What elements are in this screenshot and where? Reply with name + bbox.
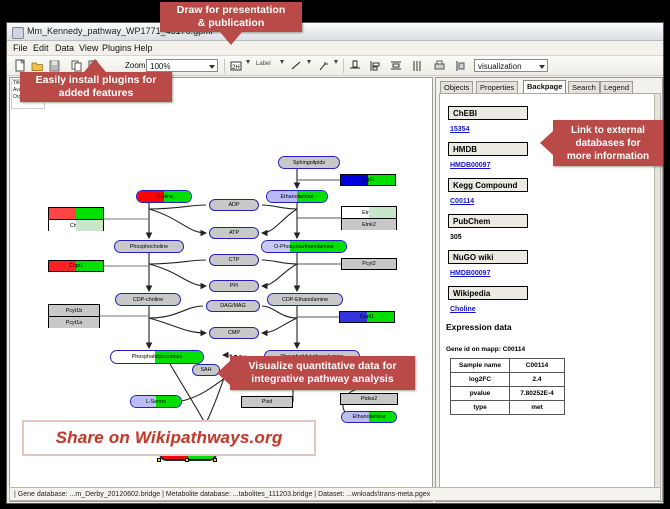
gene-label: Pisd [262, 399, 273, 405]
callout-draw: Draw for presentation & publication [160, 2, 302, 32]
callout-visualize: Visualize quantitative data for integrat… [230, 356, 415, 390]
banner-text: Share on Wikipathways.org [56, 428, 283, 448]
node-label: Ethanolamine [281, 194, 314, 200]
arrow-dropdown-icon[interactable] [334, 60, 338, 64]
node-label: Ethanolamine [353, 414, 386, 420]
datanode-dropdown-icon[interactable] [246, 60, 250, 64]
gene-ptdss2[interactable]: Ptdss2 [340, 393, 398, 405]
callout-plugins-line1: Easily install plugins for [36, 74, 157, 87]
node-label: CDP-choline [133, 297, 163, 303]
menu-item-edit[interactable]: Edit [33, 43, 49, 53]
exp-val-log2fc: 2.4 [510, 373, 565, 387]
gene-row-etnk1[interactable]: Etnk1 [342, 207, 396, 219]
node-phosphocholine[interactable]: Phosphocholine [114, 240, 184, 253]
tab-search[interactable]: Search [568, 81, 600, 93]
expression-heading: Expression data [446, 322, 512, 332]
tab-objects[interactable]: Objects [440, 81, 473, 93]
toolbar-separator-1 [224, 59, 225, 73]
distribute-h-icon[interactable] [411, 59, 424, 73]
selection-handle-s[interactable] [185, 458, 189, 462]
callout-links-line3: more information [567, 150, 649, 163]
db-link-nugo[interactable]: HMDB00097 [450, 270, 490, 277]
status-text: | Gene database: ...m_Derby_20120602.bri… [14, 491, 430, 498]
app-icon [12, 27, 24, 39]
status-bar: | Gene database: ...m_Derby_20120602.bri… [9, 487, 661, 501]
tab-backpage[interactable]: Backpage [523, 80, 566, 93]
wikipathways-banner: Share on Wikipathways.org [22, 420, 316, 456]
menu-item-view[interactable]: View [79, 43, 98, 53]
menu-item-file[interactable]: File [13, 43, 28, 53]
gene-group-chk[interactable]: Chkb Chka [48, 207, 104, 231]
db-header-kegg: Kegg Compound [448, 178, 528, 192]
callout-draw-line2: & publication [177, 17, 286, 30]
node-label: Sphingolipids [293, 160, 325, 166]
toolbar-separator-2 [343, 59, 344, 73]
label-tool-label[interactable]: Label [256, 61, 271, 67]
node-ctp[interactable]: CTP [209, 254, 259, 266]
callout-visualize-line1: Visualize quantitative data for [248, 360, 396, 373]
db-header-wikipedia: Wikipedia [448, 286, 528, 300]
node-label: DAG/MAG [220, 303, 245, 309]
db-link-chebi[interactable]: 15354 [450, 126, 469, 133]
callout-plugins-line2: added features [36, 87, 157, 100]
gene-pisd[interactable]: Pisd [241, 396, 293, 408]
table-row: pvalue 7.80252E-4 [451, 387, 565, 401]
node-label: Phosphocholine [130, 244, 168, 250]
gene-label: Pcyt1b [66, 308, 82, 314]
db-value-pubchem: 305 [450, 234, 462, 241]
line-dropdown-icon[interactable] [307, 60, 311, 64]
node-label: SAH [200, 367, 211, 373]
node-label: ADP [228, 202, 239, 208]
gene-id-on-mapp: Gene id on mapp: C00114 [446, 346, 525, 353]
exp-key-sample-name: Sample name [451, 359, 510, 373]
db-link-wikipedia[interactable]: Choline [450, 306, 476, 313]
table-row: log2FC 2.4 [451, 373, 565, 387]
menu-item-help[interactable]: Help [134, 43, 153, 53]
db-header-chebi: ChEBI [448, 106, 528, 120]
order-icon[interactable] [455, 59, 468, 73]
menu-bar: File Edit Data View Plugins Help [7, 41, 663, 56]
db-header-pubchem: PubChem [448, 214, 528, 228]
node-cdp-ethanolamine[interactable]: CDP-Ethanolamine [267, 293, 343, 306]
gene-label: Ptdss2 [361, 396, 377, 402]
node-ppi[interactable]: PPi [209, 280, 259, 292]
zoom-label: Zoom: [125, 61, 148, 70]
gene-label: Chpt1 [69, 263, 83, 269]
callout-visualize-arrow-icon [217, 361, 230, 385]
callout-visualize-line2: integrative pathway analysis [248, 373, 396, 386]
exp-key-log2fc: log2FC [451, 373, 510, 387]
callout-draw-arrow-icon [220, 32, 242, 45]
gene-label: Pcyt2 [362, 261, 375, 267]
svg-text:2H: 2H [232, 65, 240, 71]
node-label: CTP [229, 257, 240, 263]
callout-links: Link to external databases for more info… [553, 120, 663, 166]
zoom-value: 100% [150, 62, 170, 71]
gene-row-pcyt1b[interactable]: Pcyt1b [49, 305, 99, 317]
arrow-tool-icon[interactable] [317, 59, 330, 73]
callout-links-arrow-icon [540, 131, 553, 155]
gene-label: Etnk2 [362, 222, 376, 228]
gene-pcyt2[interactable]: Pcyt2 [341, 258, 397, 270]
menu-item-data[interactable]: Data [55, 43, 74, 53]
gene-group-etnk[interactable]: Etnk1 Etnk2 [341, 206, 397, 230]
node-phosphatidylcholines[interactable]: Phosphatidylcholines [110, 350, 204, 364]
node-ethanolamine-low[interactable]: Ethanolamine [341, 411, 397, 423]
node-ethanolamine-top[interactable]: Ethanolamine [266, 190, 328, 203]
callout-draw-line1: Draw for presentation [177, 4, 286, 17]
exp-key-type: type [451, 401, 510, 415]
gene-label: Cept1 [360, 314, 374, 320]
exp-val-sample-name: C00114 [510, 359, 565, 373]
gene-row-etnk2[interactable]: Etnk2 [342, 219, 396, 230]
node-o-phosphoethanolamine[interactable]: O-Phosphoethanolamine [261, 240, 347, 253]
node-label: ATP [229, 230, 239, 236]
label-dropdown-icon[interactable] [280, 60, 284, 64]
screenshot-root: Mm_Kennedy_pathway_WP1771_45176.gpml Fil… [0, 0, 670, 509]
table-row: type met [451, 401, 565, 415]
gene-row-pcyt1a[interactable]: Pcyt1a [49, 317, 99, 328]
callout-plugins: Easily install plugins for added feature… [20, 72, 172, 102]
callout-links-line1: Link to external [567, 124, 649, 137]
node-label: Choline [155, 194, 173, 200]
node-dag-mag[interactable]: DAG/MAG [206, 300, 260, 312]
gene-label: Pcyt1a [66, 320, 82, 326]
gene-group-pcyt1[interactable]: Pcyt1b Pcyt1a [48, 304, 100, 328]
node-label: Phosphatidylcholines [132, 354, 183, 360]
line-tool-icon[interactable] [290, 59, 303, 73]
node-label: PPi [230, 283, 238, 289]
distribute-v-icon[interactable] [390, 59, 403, 73]
gene-row-chkb[interactable]: Chkb [49, 208, 103, 220]
chevron-down-icon-2 [539, 65, 545, 69]
db-link-hmdb[interactable]: HMDB00097 [450, 162, 490, 169]
node-atp[interactable]: ATP [209, 227, 259, 239]
save-icon[interactable] [48, 59, 61, 73]
node-label: CMP [228, 330, 240, 336]
node-l-serine-left[interactable]: L-Serine [130, 395, 182, 408]
node-choline-top[interactable]: Choline [136, 190, 192, 203]
node-cdp-choline[interactable]: CDP-choline [115, 293, 181, 306]
exp-key-pvalue: pvalue [451, 387, 510, 401]
zoom-combo[interactable]: 100% [146, 59, 218, 72]
expression-table: Sample name C00114 log2FC 2.4 pvalue 7.8… [450, 358, 565, 415]
db-header-hmdb: HMDB [448, 142, 528, 156]
table-row: Sample name C00114 [451, 359, 565, 373]
node-sphingolipids[interactable]: Sphingolipids [278, 156, 340, 169]
node-label: L-Serine [146, 399, 166, 405]
exp-val-type: met [510, 401, 565, 415]
visualization-combo[interactable]: visualization [474, 59, 548, 72]
chevron-down-icon [209, 65, 215, 69]
align-left-icon[interactable] [369, 59, 382, 73]
new-file-icon[interactable] [14, 59, 27, 73]
node-sah[interactable]: SAH [192, 364, 220, 376]
copy-icon[interactable] [70, 59, 83, 73]
print-icon[interactable] [433, 59, 446, 73]
tab-properties[interactable]: Properties [476, 81, 518, 93]
callout-links-line2: databases for [567, 137, 649, 150]
tab-legend[interactable]: Legend [600, 81, 633, 93]
open-folder-icon[interactable] [31, 59, 44, 73]
db-header-nugo: NuGO wiki [448, 250, 528, 264]
node-adp[interactable]: ADP [209, 199, 259, 211]
db-link-kegg[interactable]: C00114 [450, 198, 474, 205]
visualization-value: visualization [478, 62, 522, 71]
callout-plugins-arrow-icon [84, 59, 106, 72]
title-bar: Mm_Kennedy_pathway_WP1771_45176.gpml [7, 23, 663, 41]
exp-val-pvalue: 7.80252E-4 [510, 387, 565, 401]
gene-row-chka[interactable]: Chka [49, 220, 103, 231]
gene-label: Sgpl1 [361, 177, 375, 183]
gene-sgpl1[interactable]: Sgpl1 [340, 174, 396, 186]
selection-handle-se[interactable] [213, 458, 217, 462]
gene-cept1[interactable]: Cept1 [339, 311, 395, 323]
node-cmp[interactable]: CMP [209, 327, 259, 339]
node-label: CDP-Ethanolamine [282, 297, 328, 303]
gene-chpt1[interactable]: Chpt1 [48, 260, 104, 272]
node-label: O-Phosphoethanolamine [274, 244, 334, 250]
selection-handle-sw[interactable] [157, 458, 161, 462]
align-center-icon[interactable] [349, 59, 362, 73]
menu-item-plugins[interactable]: Plugins [102, 43, 132, 53]
datanode-icon[interactable]: 2H [230, 59, 242, 73]
